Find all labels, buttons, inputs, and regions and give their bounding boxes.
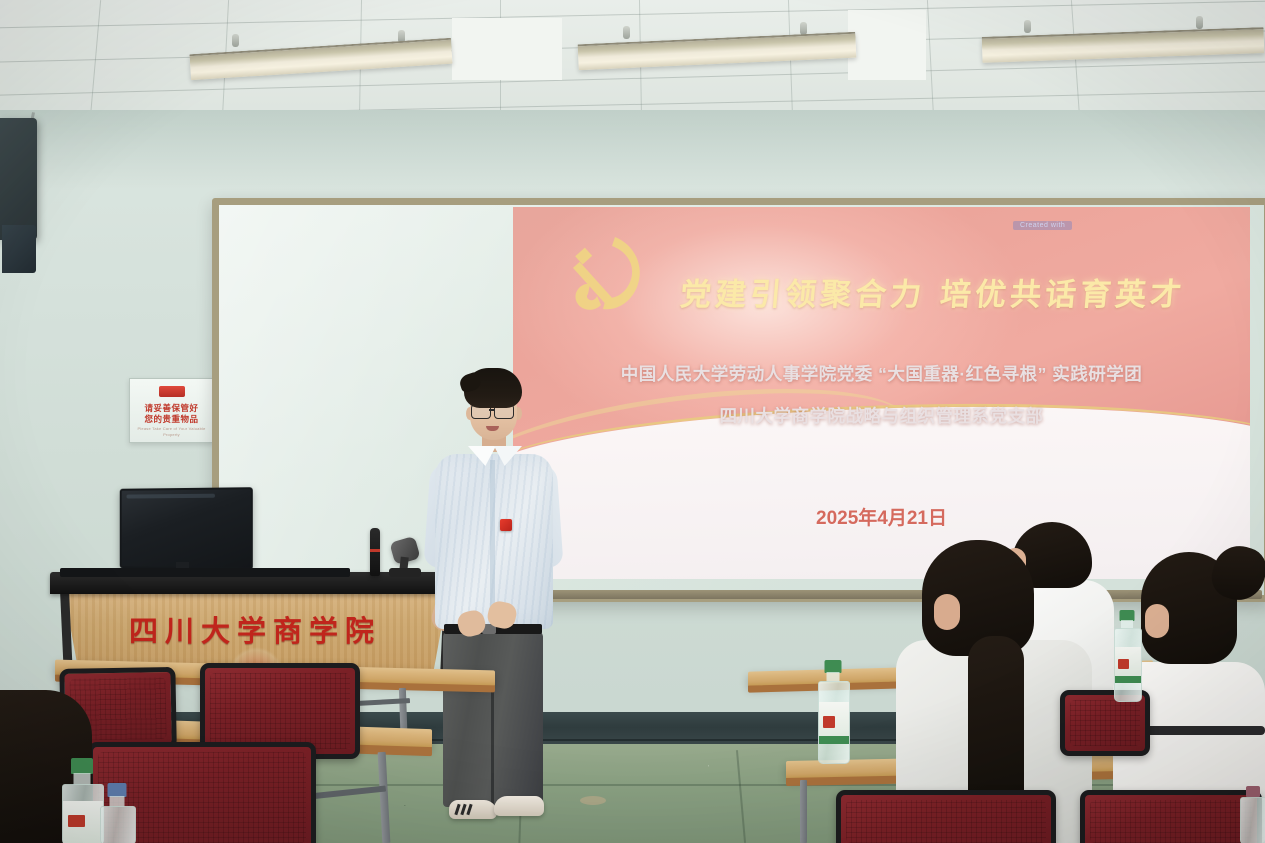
water-bottle-2[interactable] <box>1114 610 1140 700</box>
water-bottle-3[interactable] <box>62 758 102 843</box>
wall-speaker-lower <box>2 225 36 273</box>
classroom-photo: 请妥善保管好 您的贵重物品 Please Take Care of Your V… <box>0 0 1265 843</box>
slide-subtitle-1: 中国人民大学劳动人事学院党委 “大国重器·红色寻根” 实践研学团 <box>513 361 1250 386</box>
chair-occupied-1[interactable] <box>836 790 1046 843</box>
presenter-shirt-placket <box>490 460 495 625</box>
bottle-label-3 <box>63 801 103 843</box>
slide-date: 2025年4月21日 <box>513 503 1250 530</box>
wallet-icon <box>159 386 185 397</box>
slide-title: 党建引领聚合力 培优共话育英才 <box>631 269 1235 314</box>
wall-speaker <box>0 118 37 240</box>
keyboard[interactable] <box>60 568 350 577</box>
presenter-trouser-seam <box>491 678 494 807</box>
sign-line-2: 您的贵重物品 <box>130 413 213 425</box>
ceiling-light-2 <box>578 32 857 71</box>
bottle-body-3 <box>62 784 104 843</box>
presenter-shoe-left <box>449 800 497 819</box>
water-bottle-1[interactable] <box>818 660 848 762</box>
desk-leg-right-1 <box>800 780 807 843</box>
sign-english-text: Please Take Care of Your Valuable Proper… <box>130 426 213 438</box>
presenter-shoe-right <box>494 796 544 816</box>
slide-subtitle-2: 四川大学商学院战略与组织管理系党支部 <box>513 403 1250 428</box>
bottle-cap-4 <box>108 783 127 797</box>
bottle-body-2 <box>1114 628 1142 702</box>
floor-debris <box>580 796 606 805</box>
slide-watermark: Created with <box>1013 221 1072 230</box>
bottle-body-5 <box>1240 797 1265 843</box>
ceiling <box>0 0 1265 118</box>
desktop-monitor[interactable] <box>120 487 253 570</box>
chair-occupied-2[interactable] <box>1080 790 1252 843</box>
bottle-cap-3 <box>71 758 93 774</box>
projected-slide: Created with 党建引领聚合力 培优共话育英才 中国人民大学劳动人事学… <box>513 207 1250 579</box>
chair-empty-2[interactable] <box>200 663 350 749</box>
water-bottle-5[interactable] <box>1240 786 1265 843</box>
podium-inscription: 四川大学商学院 <box>100 608 410 650</box>
ceiling-light-1 <box>189 38 452 80</box>
wall-notice-sign: 请妥善保管好 您的贵重物品 Please Take Care of Your V… <box>129 378 214 443</box>
bottle-body-4 <box>100 806 136 843</box>
presenter <box>416 368 566 820</box>
handheld-microphone[interactable] <box>370 528 380 576</box>
student-1-ear <box>934 594 960 630</box>
student-3-ear <box>1145 604 1169 638</box>
glasses-bridge <box>489 409 494 411</box>
party-emblem-pin <box>500 519 512 531</box>
bottle-cap-5 <box>1246 786 1260 797</box>
ceiling-light-3 <box>982 27 1265 63</box>
microphone-indicator <box>370 549 380 552</box>
water-bottle-4[interactable] <box>100 783 134 843</box>
wall-shadow <box>0 110 1265 190</box>
monitor-screen-glow <box>126 494 215 499</box>
bottle-body-1 <box>818 681 850 764</box>
